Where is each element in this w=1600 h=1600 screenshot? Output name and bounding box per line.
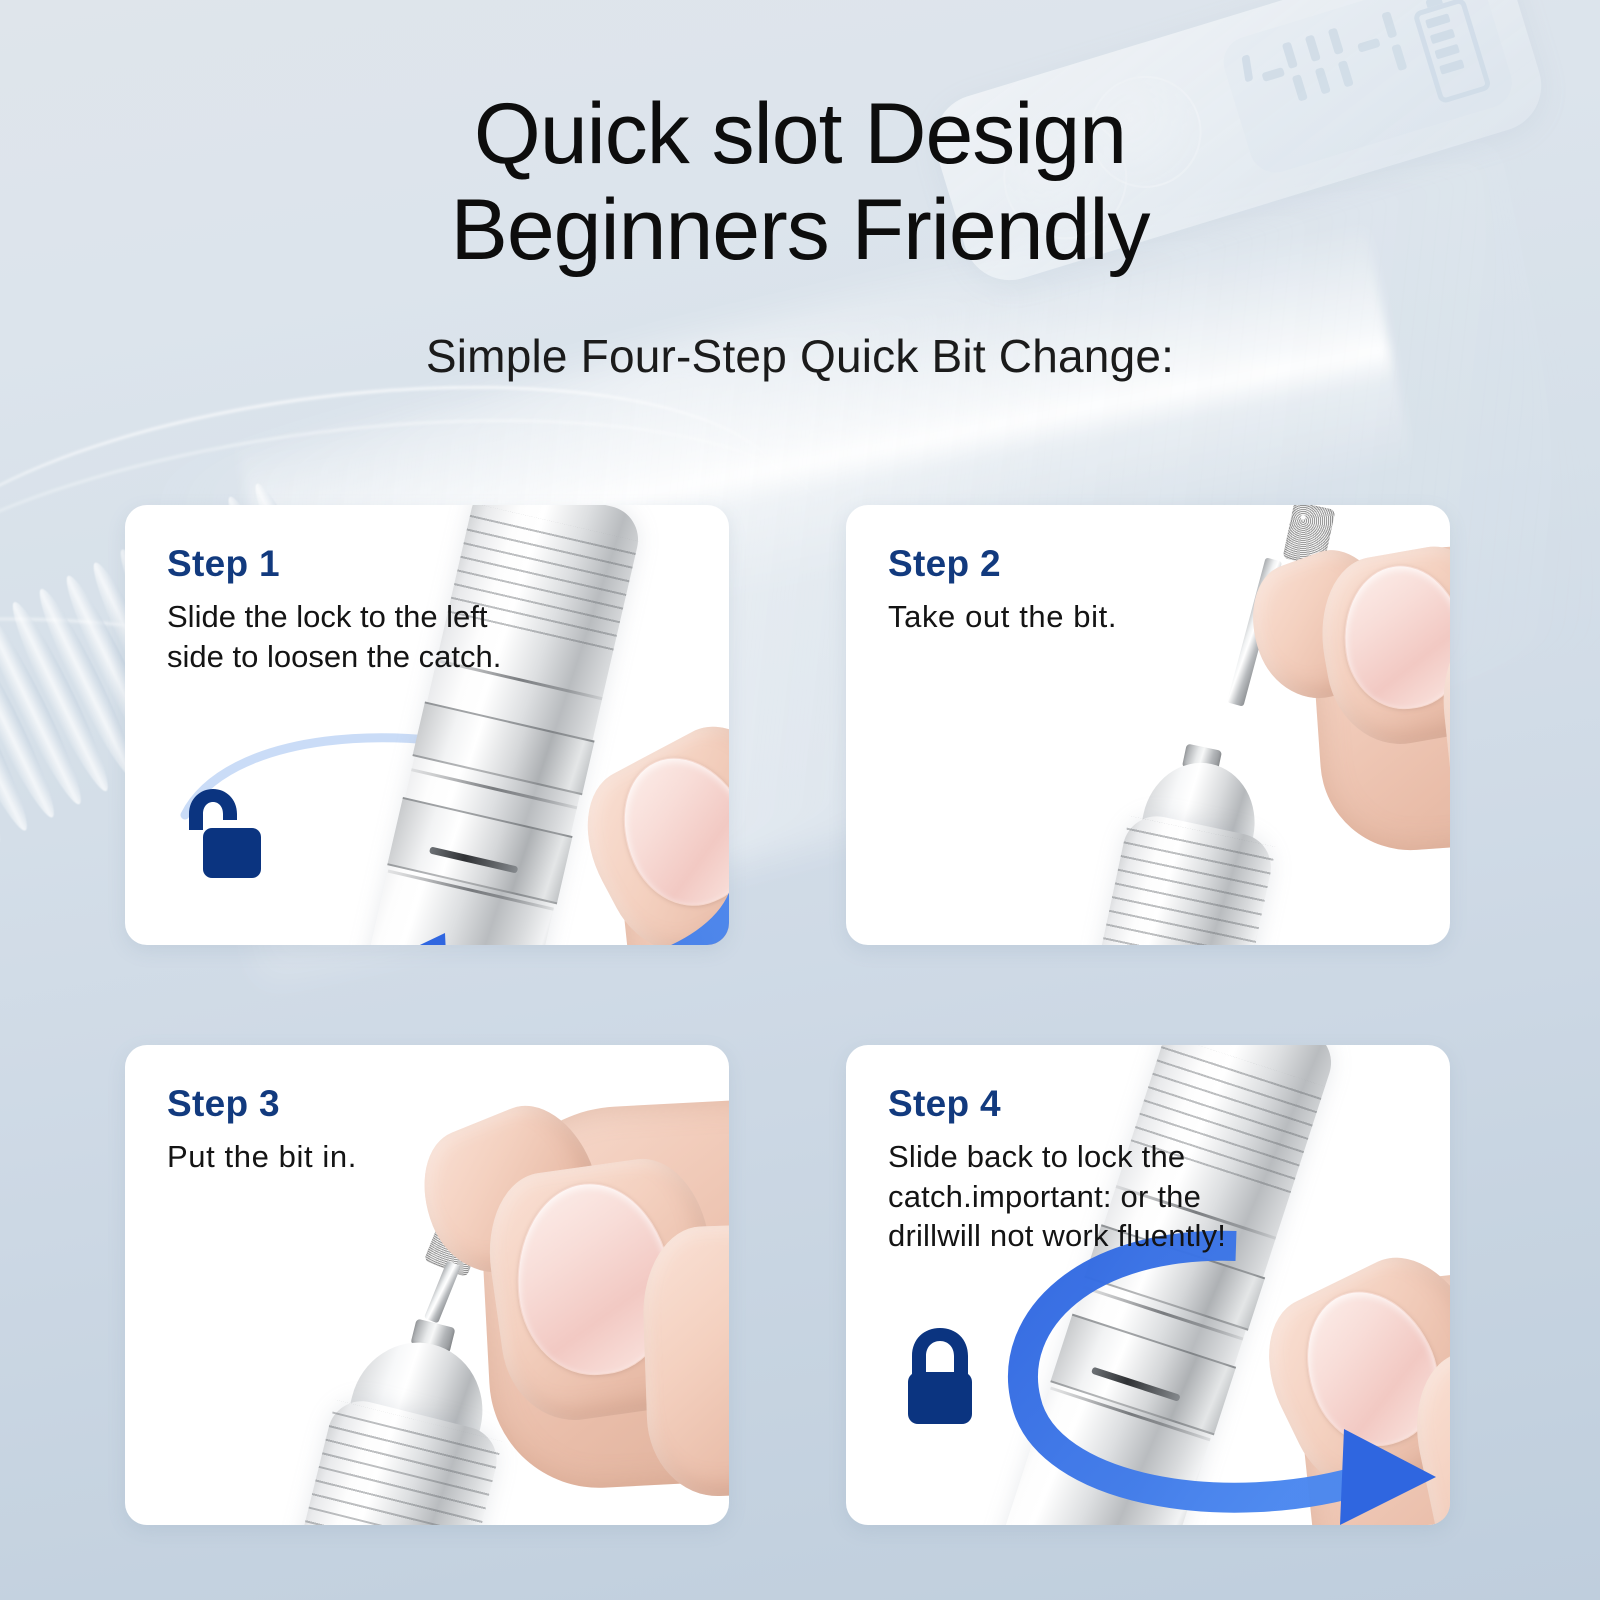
step-2-text: Step 2 Take out the bit. — [888, 543, 1117, 637]
title-line-1: Quick slot Design — [474, 86, 1126, 182]
step-3-label: Step 3 — [167, 1083, 357, 1125]
page-subtitle: Simple Four-Step Quick Bit Change: — [0, 279, 1600, 383]
step-2-description: Take out the bit. — [888, 597, 1117, 637]
step-4-description: Slide back to lock the catch.important: … — [888, 1137, 1238, 1256]
step-4-label: Step 4 — [888, 1083, 1238, 1125]
curved-arrow-left — [315, 825, 729, 945]
step-2-label: Step 2 — [888, 543, 1117, 585]
step-1-text: Step 1 Slide the lock to the left side t… — [167, 543, 527, 676]
step-card-1[interactable]: Step 1 Slide the lock to the left side t… — [125, 505, 729, 945]
drill-bit-shank — [424, 1260, 461, 1323]
page-title: Quick slot Design Beginners Friendly — [0, 0, 1600, 279]
unlock-icon — [173, 784, 265, 887]
step-card-3[interactable]: Step 3 Put the bit in. — [125, 1045, 729, 1525]
step-card-4[interactable]: Step 4 Slide back to lock the catch.impo… — [846, 1045, 1450, 1525]
step-card-2[interactable]: Step 2 Take out the bit. — [846, 505, 1450, 945]
step-3-text: Step 3 Put the bit in. — [167, 1083, 357, 1177]
step-3-description: Put the bit in. — [167, 1137, 357, 1177]
step-1-label: Step 1 — [167, 543, 527, 585]
steps-grid: Step 1 Slide the lock to the left side t… — [125, 505, 1483, 1525]
step-1-description: Slide the lock to the left side to loose… — [167, 597, 527, 676]
header: Quick slot Design Beginners Friendly Sim… — [0, 0, 1600, 383]
lock-icon — [894, 1324, 986, 1433]
curved-arrow-right — [936, 1241, 1450, 1525]
title-line-2: Beginners Friendly — [0, 182, 1600, 278]
step-4-text: Step 4 Slide back to lock the catch.impo… — [888, 1083, 1238, 1256]
